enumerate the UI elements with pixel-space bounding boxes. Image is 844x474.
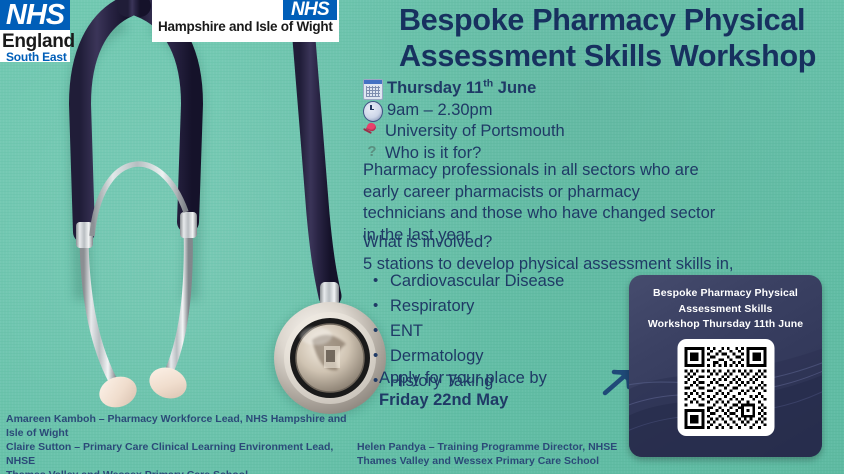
footer-line: Amareen Kamboh – Pharmacy Workforce Lead…: [6, 412, 351, 426]
nhs-logo-mark: NHS: [0, 0, 70, 30]
qr-code-card[interactable]: Bespoke Pharmacy Physical Assessment Ski…: [629, 275, 822, 457]
list-item: ENT: [363, 319, 663, 344]
footer-contacts-right: Helen Pandya – Training Programme Direct…: [357, 440, 657, 468]
event-date-main: Thursday 11: [387, 79, 483, 97]
nhs-logo-mark: NHS: [283, 0, 337, 20]
event-location-text: University of Portsmouth: [385, 121, 565, 143]
apply-label: Apply for your place by: [379, 369, 547, 387]
location-pin-icon: [363, 122, 381, 141]
nhs-england-south-east-logo: NHS England South East: [0, 0, 70, 62]
qr-card-title-line-3: Workshop Thursday 11th June: [643, 317, 808, 333]
nhs-logo-subregion: South East: [0, 51, 70, 64]
footer-line: Thames Valley and Wessex Primary Care Sc…: [357, 454, 657, 468]
nhs-hampshire-isle-of-wight-logo: NHS Hampshire and Isle of Wight: [152, 0, 339, 42]
apply-block: Apply for your place by Friday 22nd May: [379, 368, 629, 411]
stethoscope-photo: [0, 0, 400, 474]
footer-line: Thames Valley and Wessex Primary Care Sc…: [6, 468, 351, 474]
footer-contacts-left: Amareen Kamboh – Pharmacy Workforce Lead…: [6, 412, 351, 474]
what-is-involved-question: What is involved?: [363, 232, 743, 254]
list-item: Cardiovascular Disease: [363, 269, 663, 294]
event-location-row: University of Portsmouth: [363, 121, 703, 143]
qr-card-title-line-2: Assessment Skills: [643, 302, 808, 318]
clock-icon: [363, 101, 383, 122]
page-title-line-1: Bespoke Pharmacy Physical: [399, 2, 839, 38]
footer-line: Isle of Wight: [6, 426, 351, 440]
page-title: Bespoke Pharmacy Physical Assessment Ski…: [399, 2, 839, 74]
footer-line: Helen Pandya – Training Programme Direct…: [357, 440, 657, 454]
calendar-icon: [363, 79, 383, 100]
event-details-list: Thursday 11th June 9am – 2.30pm Universi…: [363, 78, 703, 164]
poster-canvas: NHS England South East NHS Hampshire and…: [0, 0, 844, 474]
event-date-row: Thursday 11th June: [363, 78, 703, 100]
qr-card-title: Bespoke Pharmacy Physical Assessment Ski…: [629, 275, 822, 333]
event-date-ordinal: th: [483, 78, 493, 90]
footer-line: Claire Sutton – Primary Care Clinical Le…: [6, 440, 351, 468]
apply-deadline: Friday 22nd May: [379, 390, 629, 412]
event-date-month: June: [493, 79, 536, 97]
event-date-text: Thursday 11th June: [387, 78, 536, 100]
qr-code[interactable]: [685, 347, 767, 429]
nhs-logo-region: England: [0, 30, 70, 51]
list-item: Respiratory: [363, 294, 663, 319]
nhs-logo-region: Hampshire and Isle of Wight: [158, 19, 333, 35]
event-time-text: 9am – 2.30pm: [387, 100, 492, 122]
qr-code-container[interactable]: [677, 339, 774, 436]
qr-card-title-line-1: Bespoke Pharmacy Physical: [643, 286, 808, 302]
event-time-row: 9am – 2.30pm: [363, 100, 703, 122]
page-title-line-2: Assessment Skills Workshop: [399, 38, 839, 74]
